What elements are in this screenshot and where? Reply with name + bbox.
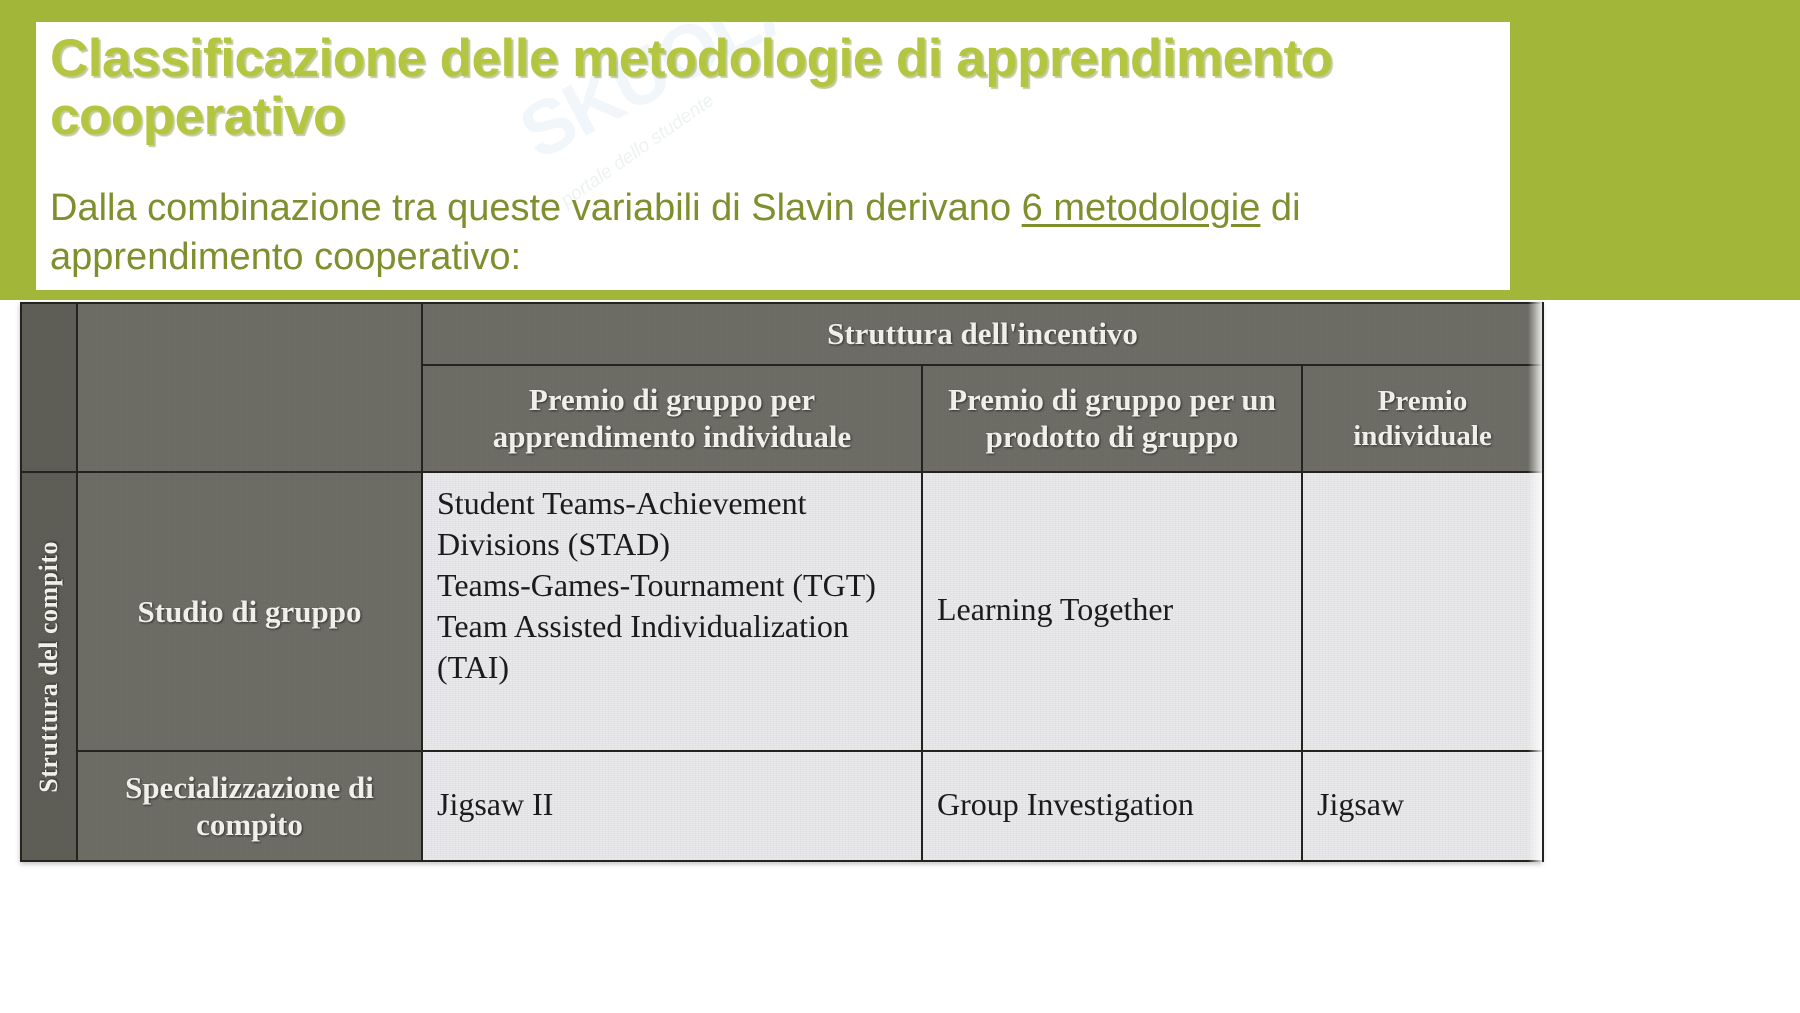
row-header-1: Specializzazione di compito	[77, 751, 422, 861]
column-axis-label: Struttura dell'incentivo	[422, 303, 1543, 365]
header-card: SKUOLA.net il portale dello studente Cla…	[36, 22, 1510, 290]
classification-table: Struttura dell'incentivo Premio di grupp…	[20, 302, 1544, 862]
slide-subtitle: Dalla combinazione tra queste variabili …	[50, 184, 1480, 281]
cell-1-1: Group Investigation	[922, 751, 1302, 861]
column-header-1: Premio di gruppo per un prodotto di grup…	[922, 365, 1302, 472]
subtitle-part-1: Dalla combinazione tra queste variabili …	[50, 187, 1022, 229]
table-row: Struttura del compito Studio di gruppo S…	[21, 472, 1543, 751]
cell-1-0: Jigsaw II	[422, 751, 922, 861]
classification-table-photo: Struttura dell'incentivo Premio di grupp…	[20, 302, 1542, 862]
table-row: Specializzazione di compito Jigsaw II Gr…	[21, 751, 1543, 861]
cell-0-1: Learning Together	[922, 472, 1302, 751]
column-header-2: Premio individuale	[1302, 365, 1543, 472]
row-axis-label: Struttura del compito	[34, 541, 64, 793]
table-corner-cell	[77, 303, 422, 472]
cell-0-0: Student Teams-Achievement Divisions (STA…	[422, 472, 922, 751]
slide-root: SKUOLA.net il portale dello studente Cla…	[0, 0, 1800, 1013]
cell-0-2	[1302, 472, 1543, 751]
row-axis-spine-header	[21, 303, 77, 472]
row-header-0: Studio di gruppo	[77, 472, 422, 751]
cell-1-2: Jigsaw	[1302, 751, 1543, 861]
table-row-incentive-axis: Struttura dell'incentivo	[21, 303, 1543, 365]
column-header-0: Premio di gruppo per apprendimento indiv…	[422, 365, 922, 472]
subtitle-highlight: 6 metodologie	[1022, 187, 1261, 229]
page-title: Classificazione delle metodologie di app…	[50, 30, 1490, 147]
row-axis-label-cell: Struttura del compito	[21, 472, 77, 861]
